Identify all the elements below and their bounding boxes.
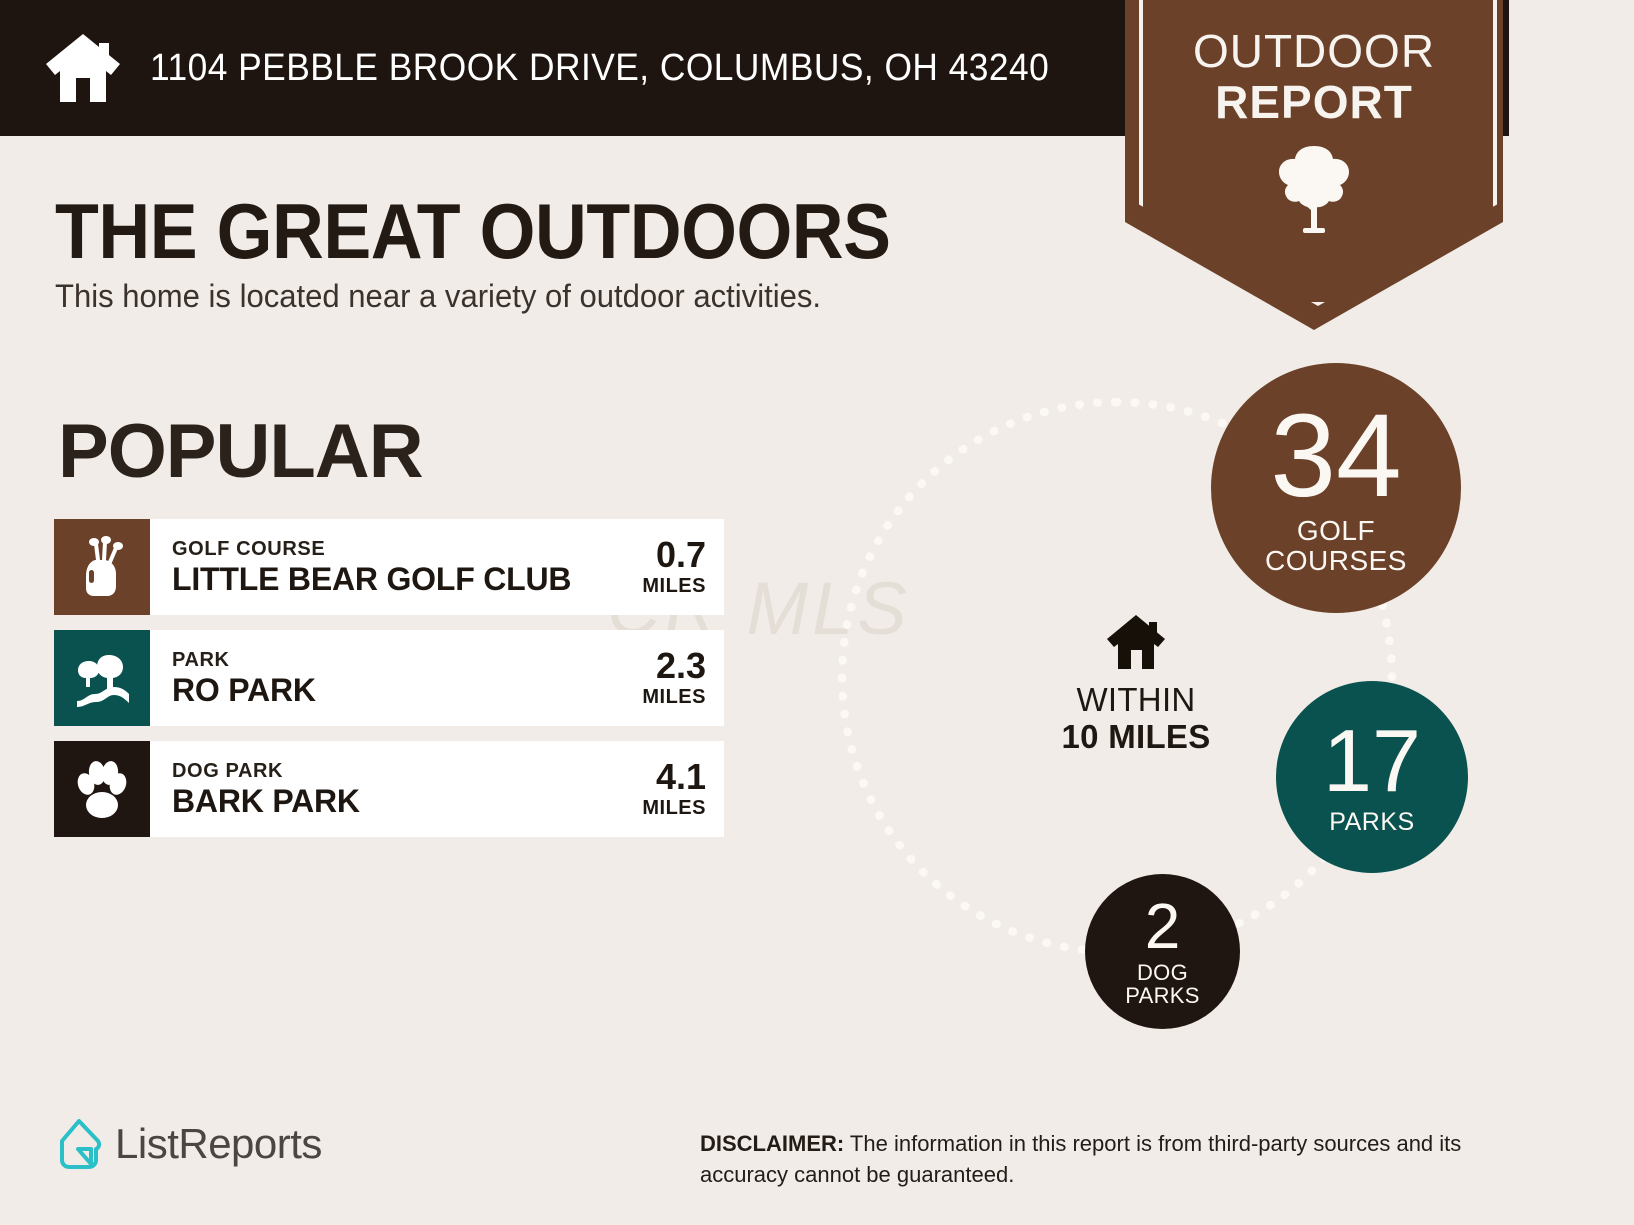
stat-label-line2: PARKS (1125, 984, 1199, 1007)
popular-list: GOLF COURSE LITTLE BEAR GOLF CLUB 0.7 MI… (54, 519, 724, 852)
stat-circle-parks: 17 PARKS (1276, 681, 1468, 873)
listreports-wordmark: ListReports (115, 1120, 322, 1168)
badge-title-line2: REPORT (1125, 76, 1503, 128)
list-item-distance: 2.3 MILES (616, 647, 706, 709)
list-item-name: RO PARK (172, 672, 616, 708)
stat-circle-dog-parks: 2 DOG PARKS (1085, 874, 1240, 1029)
home-icon (1105, 612, 1167, 672)
page-title: THE GREAT OUTDOORS (55, 186, 891, 277)
list-item[interactable]: PARK RO PARK 2.3 MILES (54, 630, 724, 726)
badge-title-line1: OUTDOOR (1125, 26, 1503, 76)
stat-label-line1: GOLF (1297, 516, 1375, 546)
list-item-icon-tile (54, 519, 150, 615)
list-item-name: LITTLE BEAR GOLF CLUB (172, 561, 616, 597)
stat-value: 34 (1270, 400, 1401, 512)
list-item-distance-value: 0.7 (616, 536, 706, 574)
listreports-logo[interactable]: ListReports (56, 1118, 322, 1170)
list-item-name: BARK PARK (172, 783, 616, 819)
list-item-distance-unit: MILES (616, 574, 706, 598)
disclaimer: DISCLAIMER: The information in this repo… (700, 1128, 1515, 1190)
disclaimer-label: DISCLAIMER: (700, 1131, 844, 1156)
list-item-distance-value: 4.1 (616, 758, 706, 796)
list-item[interactable]: DOG PARK BARK PARK 4.1 MILES (54, 741, 724, 837)
outdoor-report-badge: OUTDOOR REPORT (1125, 0, 1503, 330)
list-item-distance: 4.1 MILES (616, 758, 706, 820)
list-item-icon-tile (54, 741, 150, 837)
list-item-body: DOG PARK BARK PARK 4.1 MILES (150, 741, 724, 837)
stat-label-line1: PARKS (1329, 809, 1414, 836)
page-subtitle: This home is located near a variety of o… (55, 278, 821, 315)
paw-print-icon (73, 760, 131, 818)
list-item-icon-tile (54, 630, 150, 726)
stat-circle-golf-courses: 34 GOLF COURSES (1211, 363, 1461, 613)
list-item-body: GOLF COURSE LITTLE BEAR GOLF CLUB 0.7 MI… (150, 519, 724, 615)
within-label: WITHIN (1043, 682, 1229, 718)
section-heading-popular: POPULAR (58, 408, 423, 495)
golf-bag-icon (73, 536, 131, 598)
list-item-category: PARK (172, 648, 616, 672)
stat-label-line1: DOG (1137, 961, 1188, 984)
park-trees-icon (71, 647, 133, 709)
list-item-distance-unit: MILES (616, 685, 706, 709)
list-item-category: GOLF COURSE (172, 537, 616, 561)
list-item-distance-unit: MILES (616, 796, 706, 820)
listreports-house-tag-icon (56, 1118, 102, 1170)
badge-title: OUTDOOR REPORT (1125, 26, 1503, 128)
property-address: 1104 PEBBLE BROOK DRIVE, COLUMBUS, OH 43… (150, 47, 1049, 90)
list-item-body: PARK RO PARK 2.3 MILES (150, 630, 724, 726)
list-item[interactable]: GOLF COURSE LITTLE BEAR GOLF CLUB 0.7 MI… (54, 519, 724, 615)
within-distance: 10 MILES (1043, 718, 1229, 756)
list-item-category: DOG PARK (172, 759, 616, 783)
stat-value: 17 (1323, 719, 1421, 803)
list-item-distance-value: 2.3 (616, 647, 706, 685)
tree-icon (1272, 142, 1356, 234)
stat-label-line2: COURSES (1265, 546, 1407, 576)
home-icon (44, 30, 122, 106)
within-radius-stat: WITHIN 10 MILES (1043, 612, 1229, 756)
stat-value: 2 (1145, 896, 1181, 957)
list-item-distance: 0.7 MILES (616, 536, 706, 598)
